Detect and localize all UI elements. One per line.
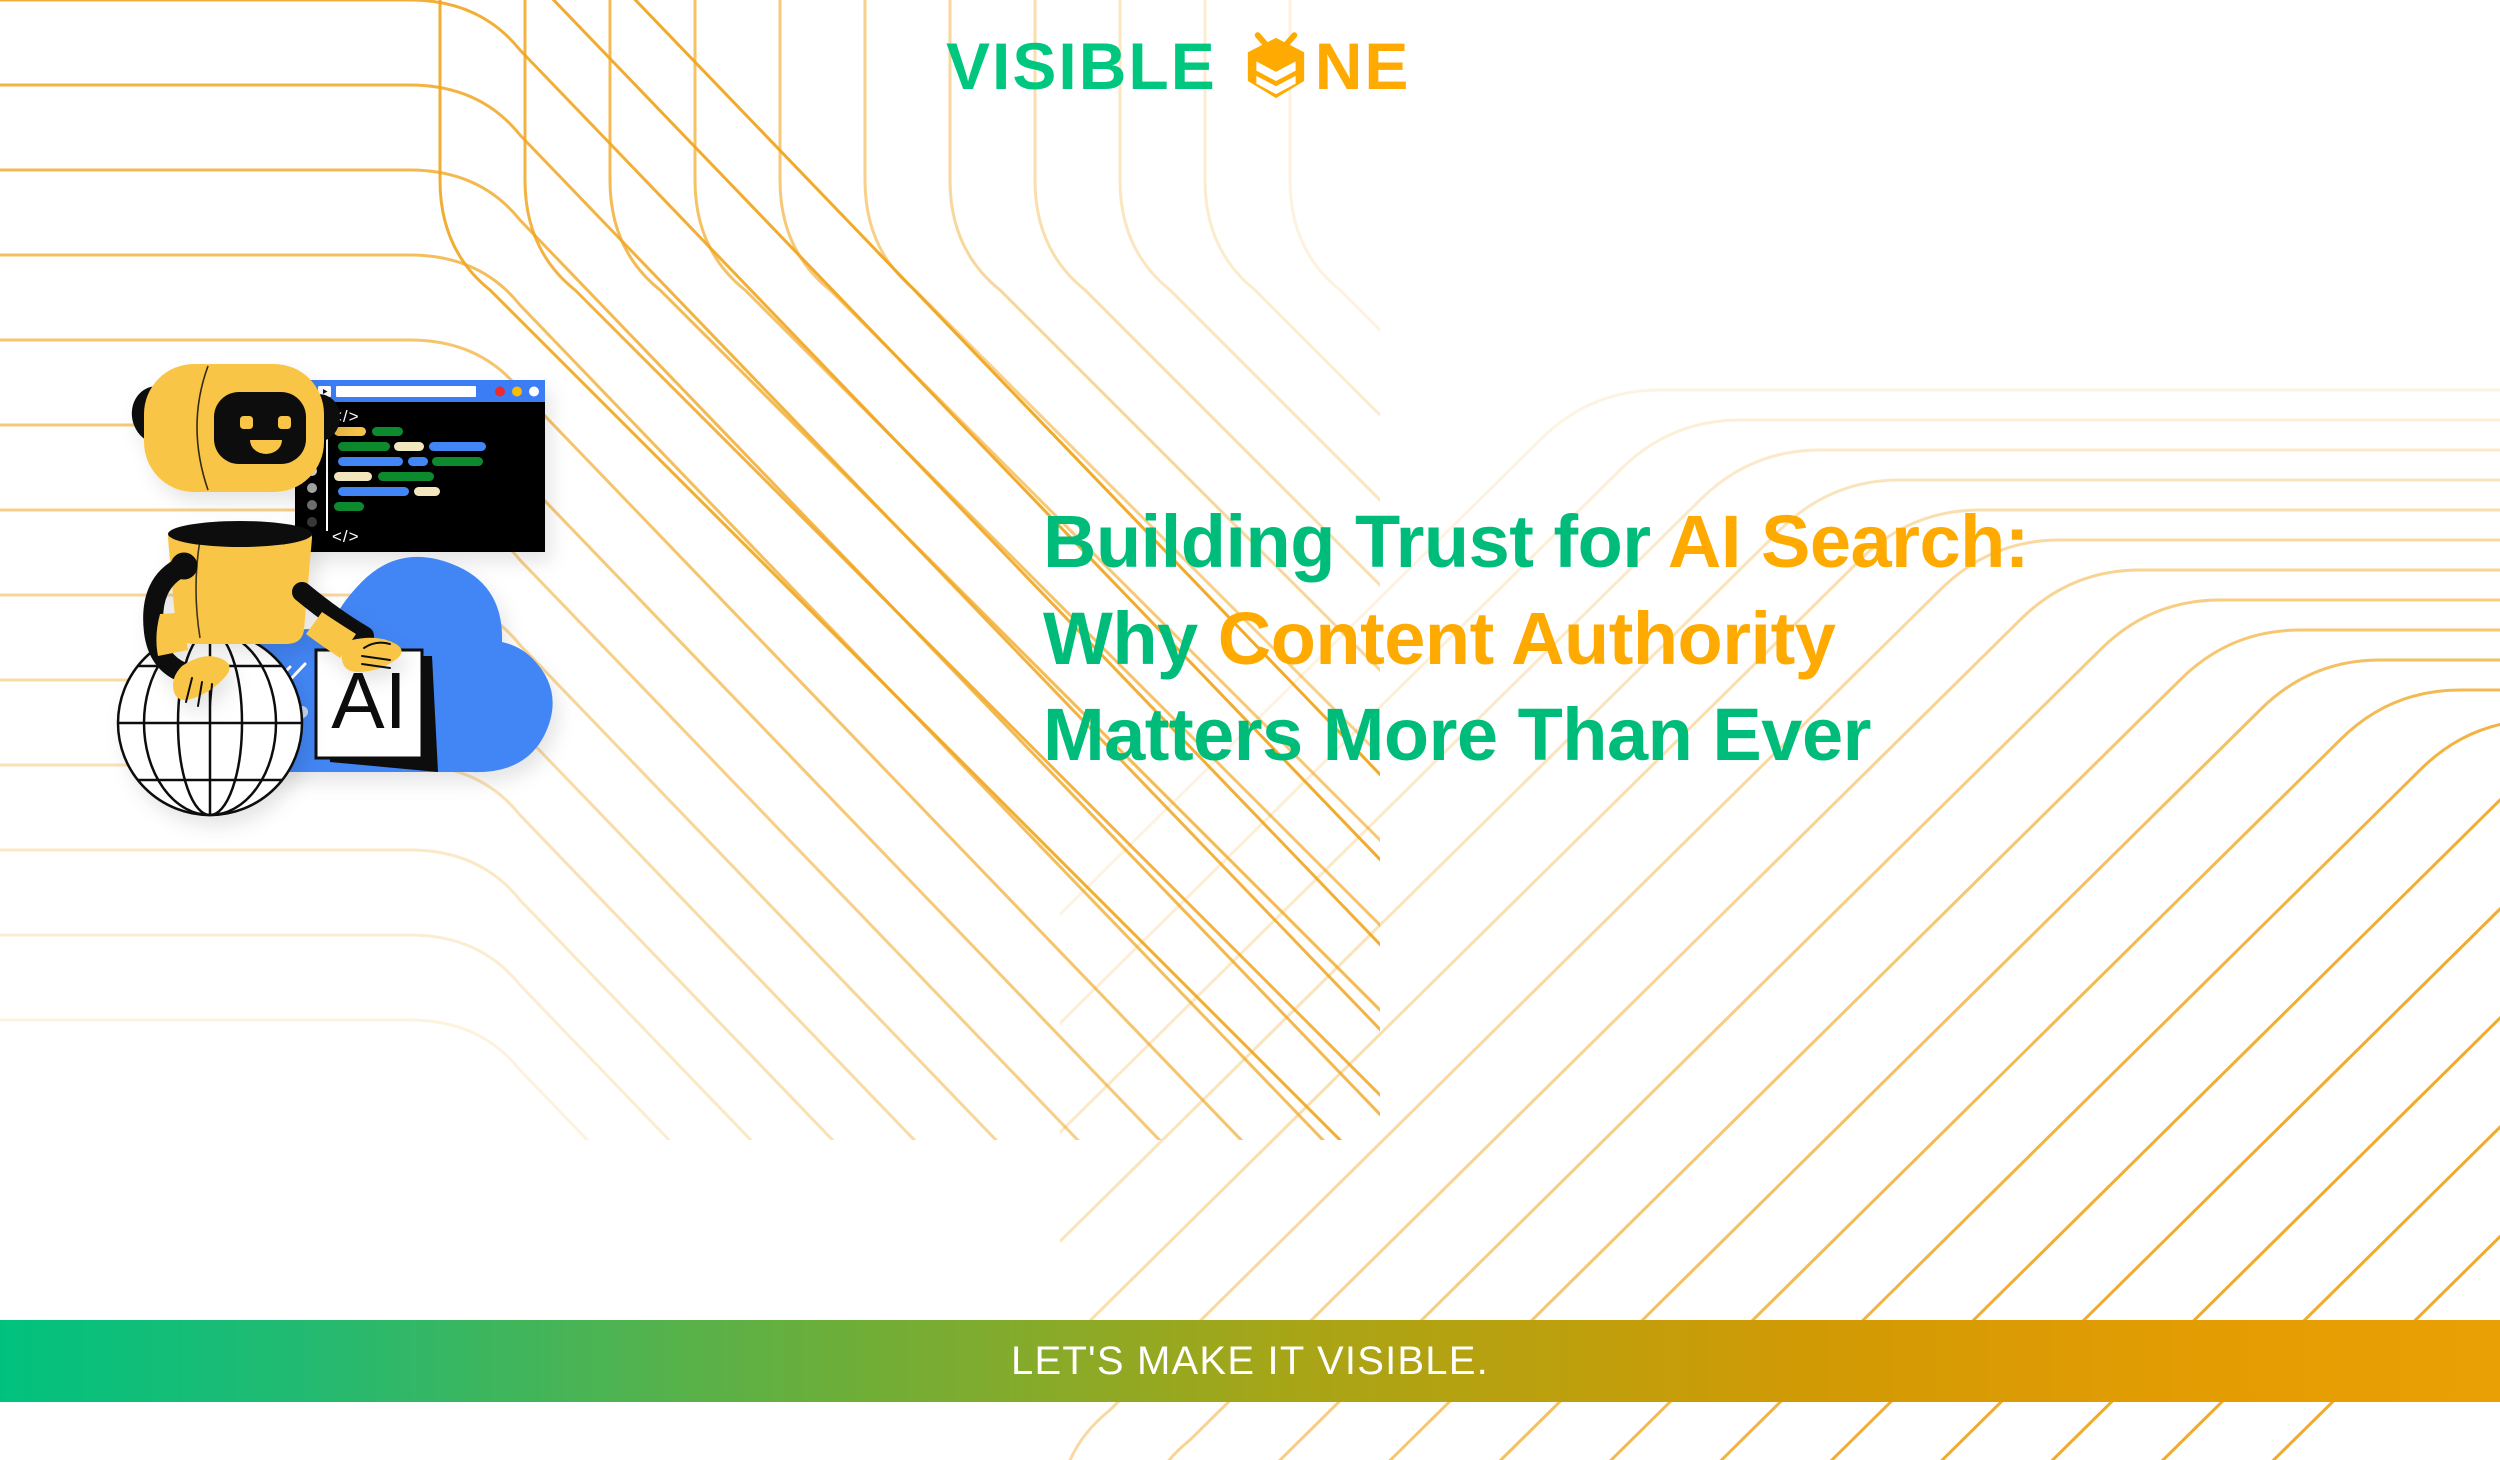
headline-segment-green-3: Matters More Than Ever <box>1043 693 1871 776</box>
headline-segment-orange-2: Content Authority <box>1218 597 1836 680</box>
brand-logo[interactable]: VISIBLE NE <box>946 30 1410 102</box>
hero-illustration: </> </> <box>100 360 900 980</box>
svg-text:</>: </> <box>332 527 360 546</box>
headline-line-2: Why Content Authority <box>1043 591 2373 688</box>
bee-hexagon-icon <box>1243 30 1309 102</box>
logo-text-visible: VISIBLE <box>946 33 1217 99</box>
headline-segment-green-2: Why <box>1043 597 1218 680</box>
headline-line-3: Matters More Than Ever <box>1043 687 2373 784</box>
headline-segment-orange-1: AI Search: <box>1668 500 2029 583</box>
slide-canvas: VISIBLE NE <box>0 0 2500 1460</box>
robot-ai-cloud-illustration: </> </> <box>100 360 900 980</box>
footer-tagline: LET'S MAKE IT VISIBLE. <box>1011 1339 1489 1384</box>
footer-banner: LET'S MAKE IT VISIBLE. <box>0 1320 2500 1402</box>
headline-line-1: Building Trust for AI Search: <box>1043 494 2373 591</box>
logo-text-one: NE <box>1315 33 1411 99</box>
headline-segment-green-1: Building Trust for <box>1043 500 1668 583</box>
page-title: Building Trust for AI Search: Why Conten… <box>1043 494 2373 785</box>
